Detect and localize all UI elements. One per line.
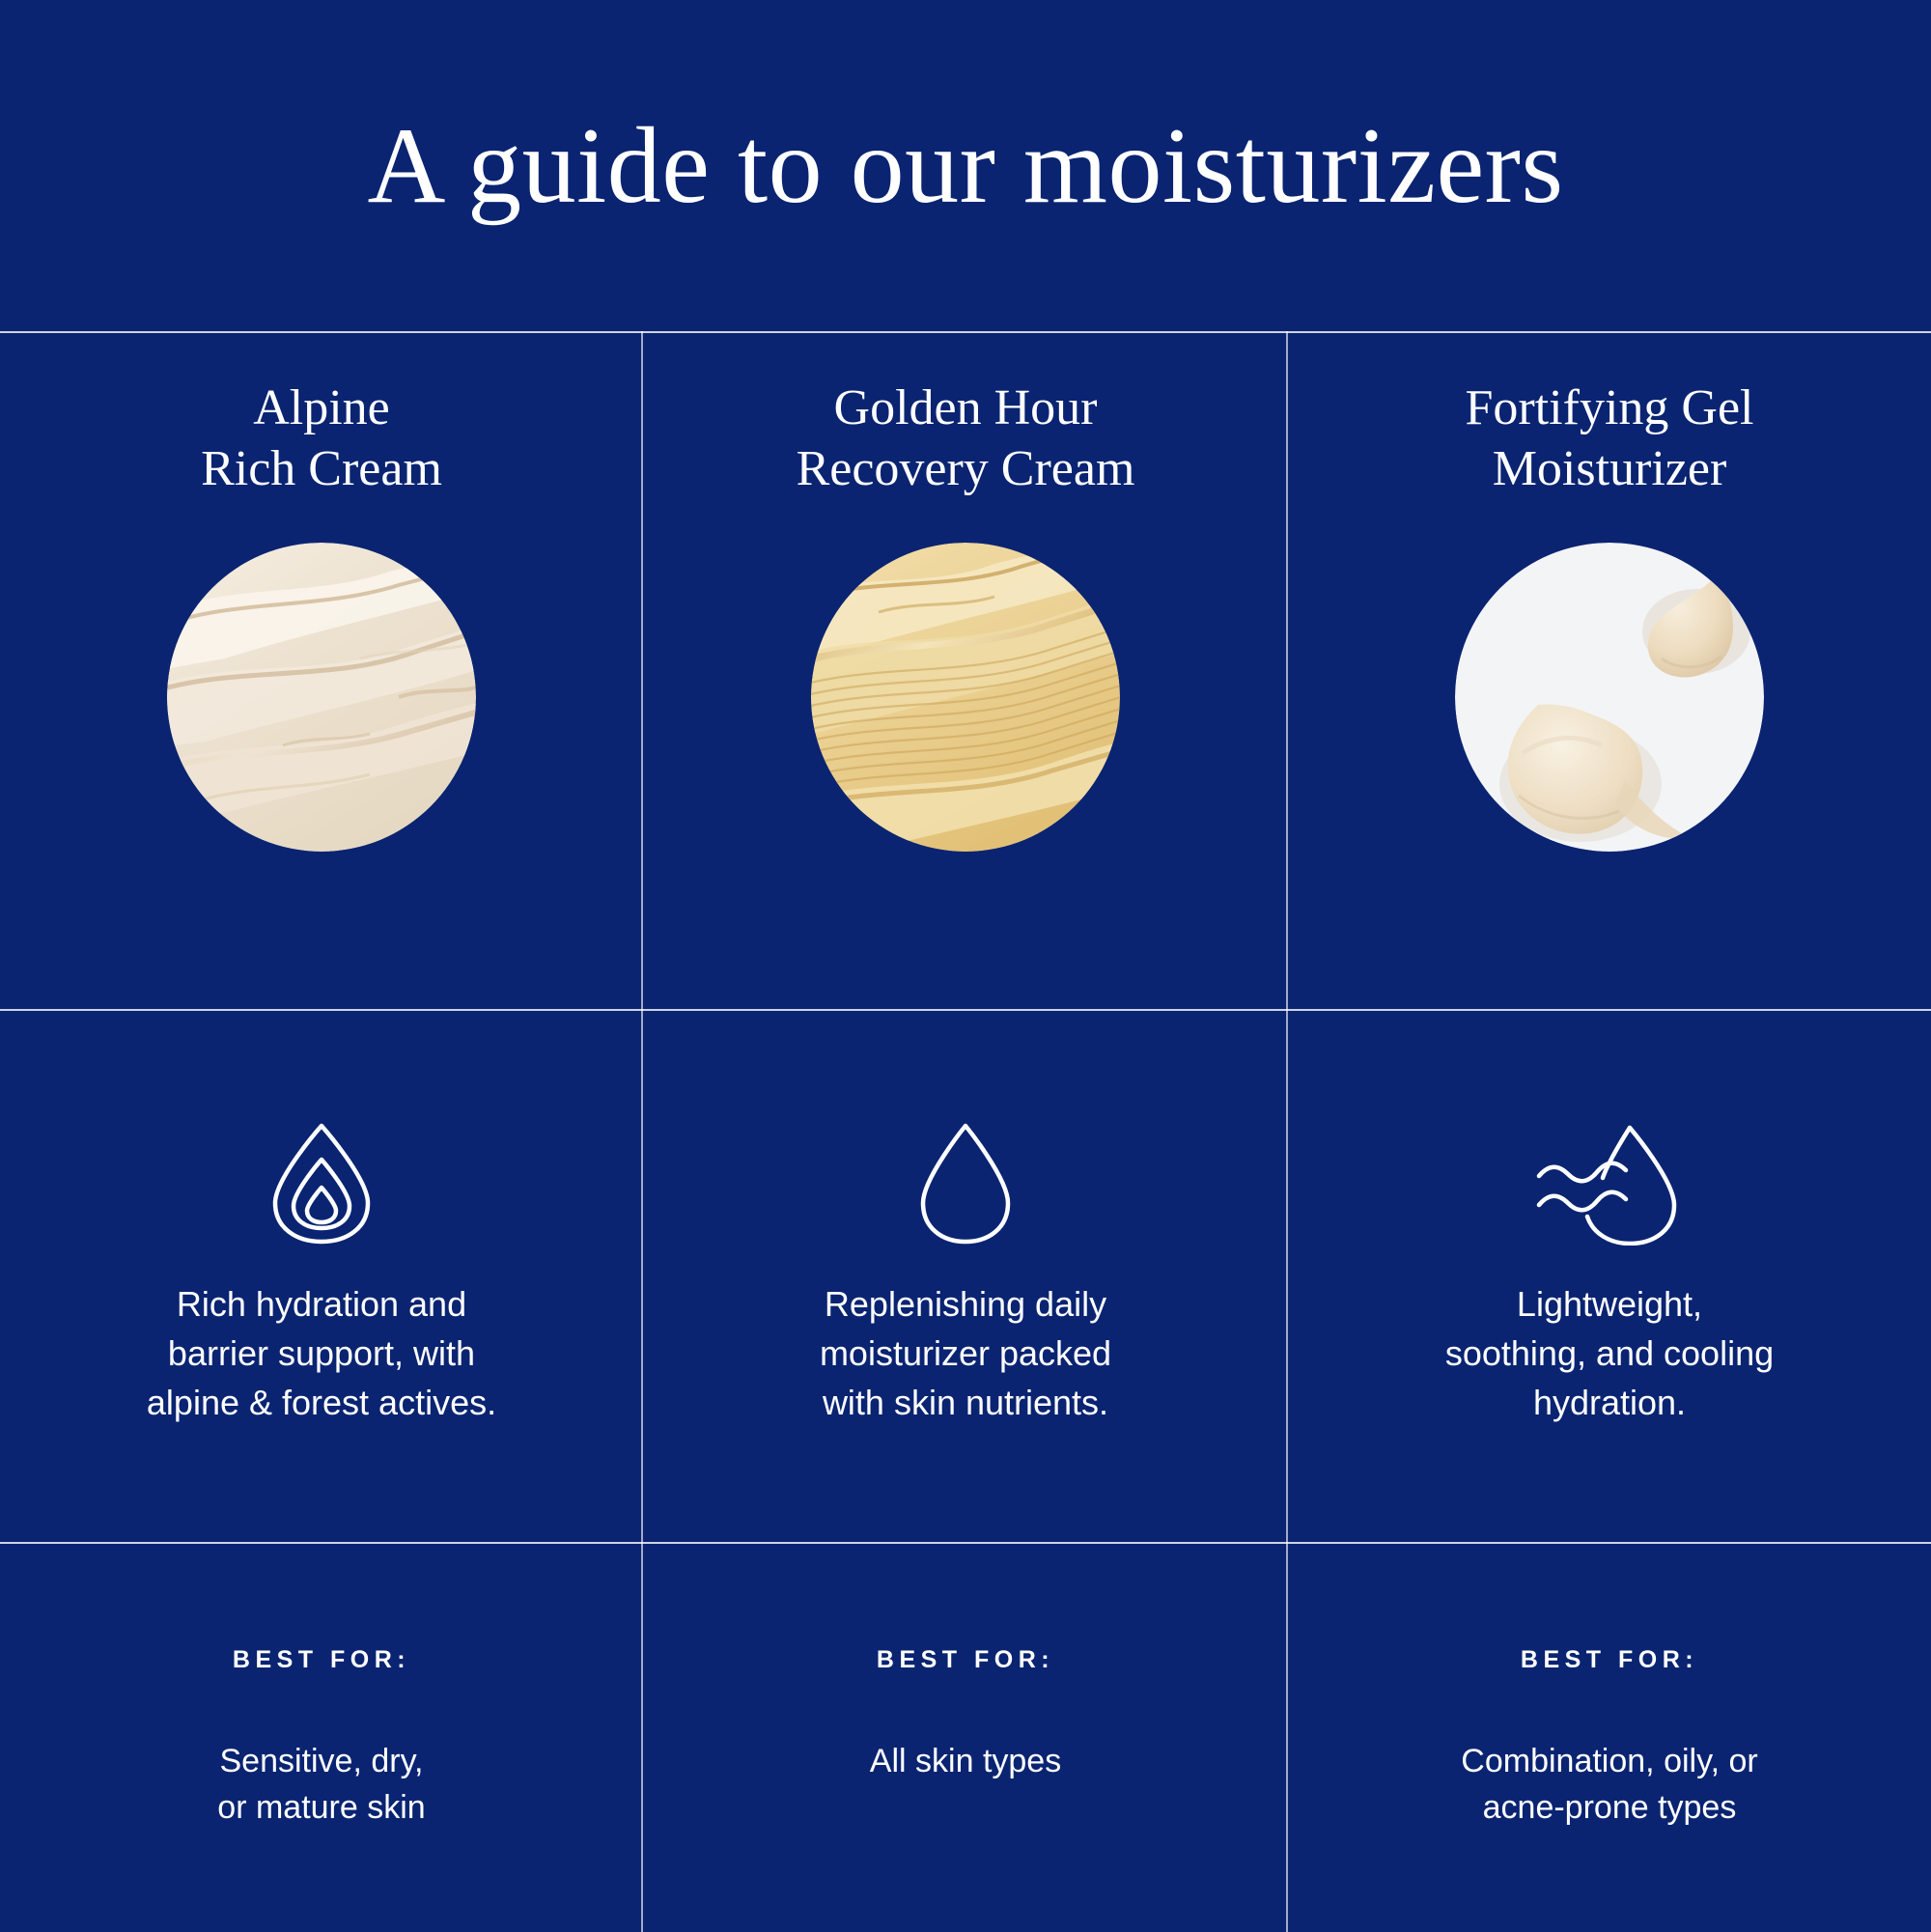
bestfor-label: BEST FOR: [877, 1646, 1054, 1674]
nested-droplet-icon [265, 1117, 378, 1245]
product-column-golden-hour-recovery-cream: Golden Hour Recovery Cream [643, 331, 1288, 1932]
droplet-with-waves-icon [1533, 1117, 1686, 1245]
golden-hour-recovery-cream-texture-swatch [811, 543, 1120, 852]
bestfor-value: Sensitive, dry, or mature skin [217, 1738, 425, 1832]
product-description: Replenishing daily moisturizer packed wi… [820, 1279, 1111, 1427]
product-column-fortifying-gel-moisturizer: Fortifying Gel Moisturizer [1288, 331, 1931, 1932]
product-header-cell: Alpine Rich Cream [0, 331, 643, 1009]
product-bestfor-cell: BEST FOR: All skin types [643, 1542, 1288, 1932]
alpine-rich-cream-texture-swatch [167, 543, 476, 852]
page-title: A guide to our moisturizers [367, 112, 1563, 220]
product-bestfor-cell: BEST FOR: Sensitive, dry, or mature skin [0, 1542, 643, 1932]
product-name: Fortifying Gel Moisturizer [1466, 378, 1754, 500]
product-name: Golden Hour Recovery Cream [797, 378, 1135, 500]
moisturizer-guide-infographic: A guide to our moisturizers Alpine Rich … [0, 0, 1931, 1932]
product-header-cell: Golden Hour Recovery Cream [643, 331, 1288, 1009]
droplet-icon [915, 1117, 1016, 1245]
product-detail-cell: Replenishing daily moisturizer packed wi… [643, 1009, 1288, 1542]
bestfor-value: All skin types [870, 1738, 1061, 1784]
bestfor-label: BEST FOR: [1521, 1646, 1698, 1674]
product-bestfor-cell: BEST FOR: Combination, oily, or acne-pro… [1288, 1542, 1931, 1932]
title-band: A guide to our moisturizers [0, 0, 1931, 331]
product-description: Lightweight, soothing, and cooling hydra… [1445, 1279, 1774, 1427]
product-columns: Alpine Rich Cream [0, 331, 1931, 1932]
product-name: Alpine Rich Cream [201, 378, 442, 500]
bestfor-label: BEST FOR: [233, 1646, 410, 1674]
product-header-cell: Fortifying Gel Moisturizer [1288, 331, 1931, 1009]
product-description: Rich hydration and barrier support, with… [147, 1279, 496, 1427]
fortifying-gel-moisturizer-texture-swatch [1455, 543, 1764, 852]
product-detail-cell: Rich hydration and barrier support, with… [0, 1009, 643, 1542]
product-detail-cell: Lightweight, soothing, and cooling hydra… [1288, 1009, 1931, 1542]
product-column-alpine-rich-cream: Alpine Rich Cream [0, 331, 643, 1932]
bestfor-value: Combination, oily, or acne-prone types [1461, 1738, 1757, 1832]
